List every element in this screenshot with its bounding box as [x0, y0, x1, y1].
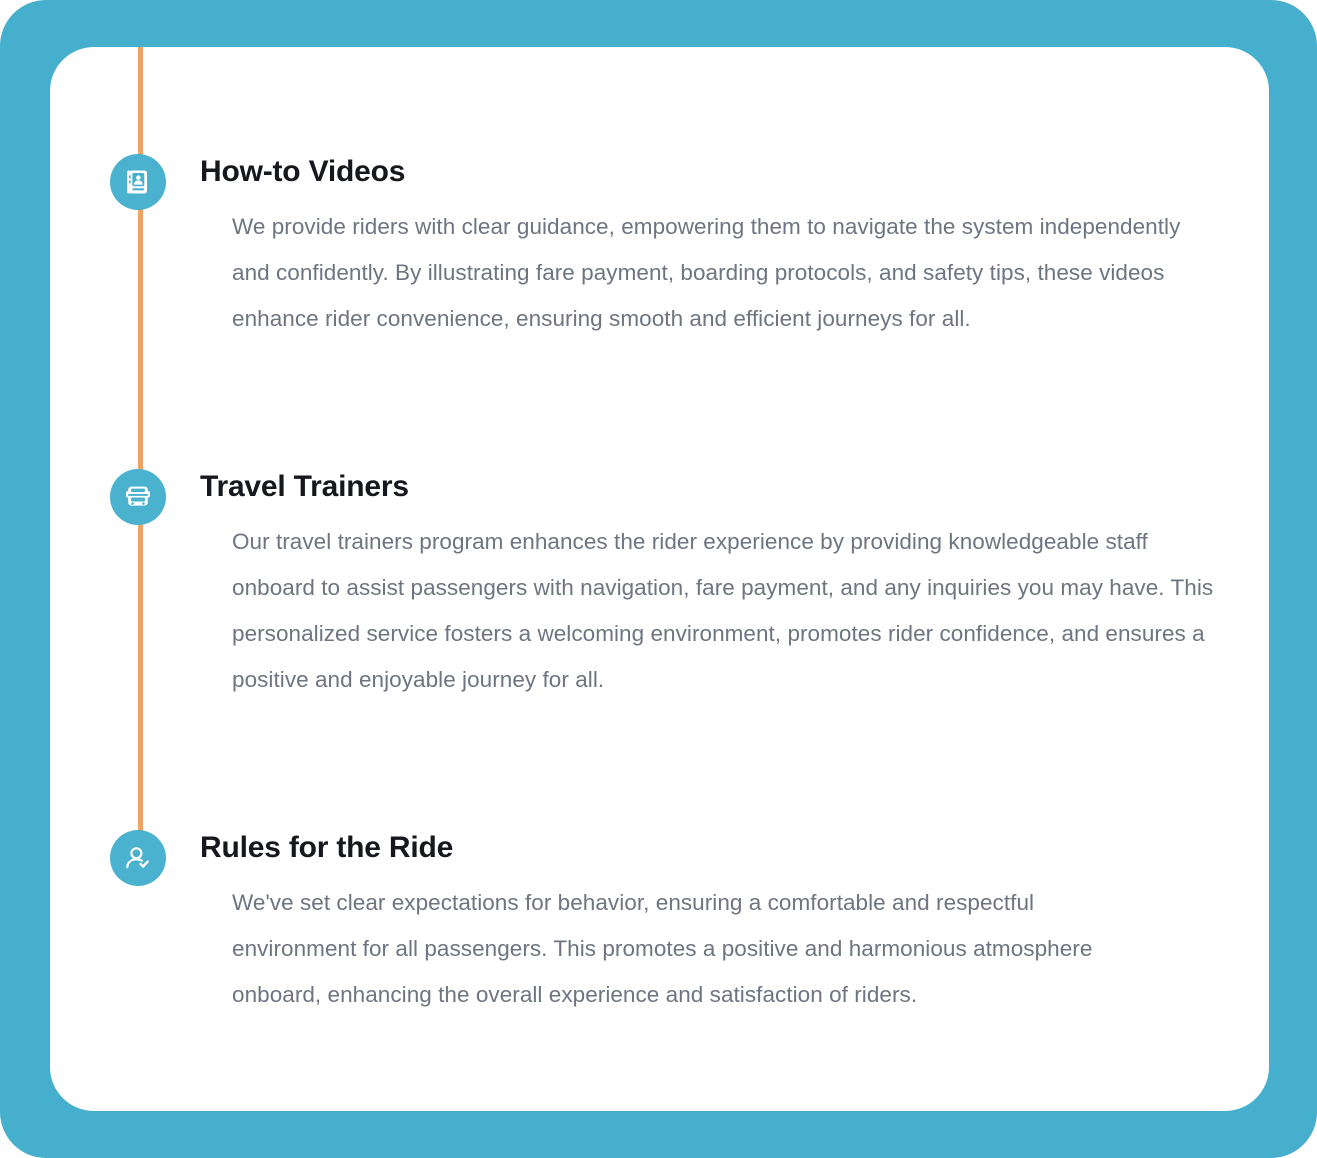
page-title: Travel Trainers [200, 469, 1260, 505]
user-check-icon [110, 830, 166, 886]
page-title: How-to Videos [200, 154, 1260, 190]
timeline-item-description: Our travel trainers program enhances the… [200, 519, 1232, 703]
timeline-item-description: We provide riders with clear guidance, e… [200, 204, 1210, 342]
content-card: How-to Videos We provide riders with cle… [50, 47, 1269, 1111]
timeline-item-body: How-to Videos We provide riders with cle… [200, 154, 1260, 342]
contact-book-icon [110, 154, 166, 210]
timeline-item-body: Rules for the Ride We've set clear expec… [200, 830, 1260, 1018]
timeline-item-body: Travel Trainers Our travel trainers prog… [200, 469, 1260, 703]
timeline-item-description: We've set clear expectations for behavio… [200, 880, 1160, 1018]
outer-frame: How-to Videos We provide riders with cle… [0, 0, 1317, 1158]
page-title: Rules for the Ride [200, 830, 1260, 866]
bus-icon [110, 469, 166, 525]
